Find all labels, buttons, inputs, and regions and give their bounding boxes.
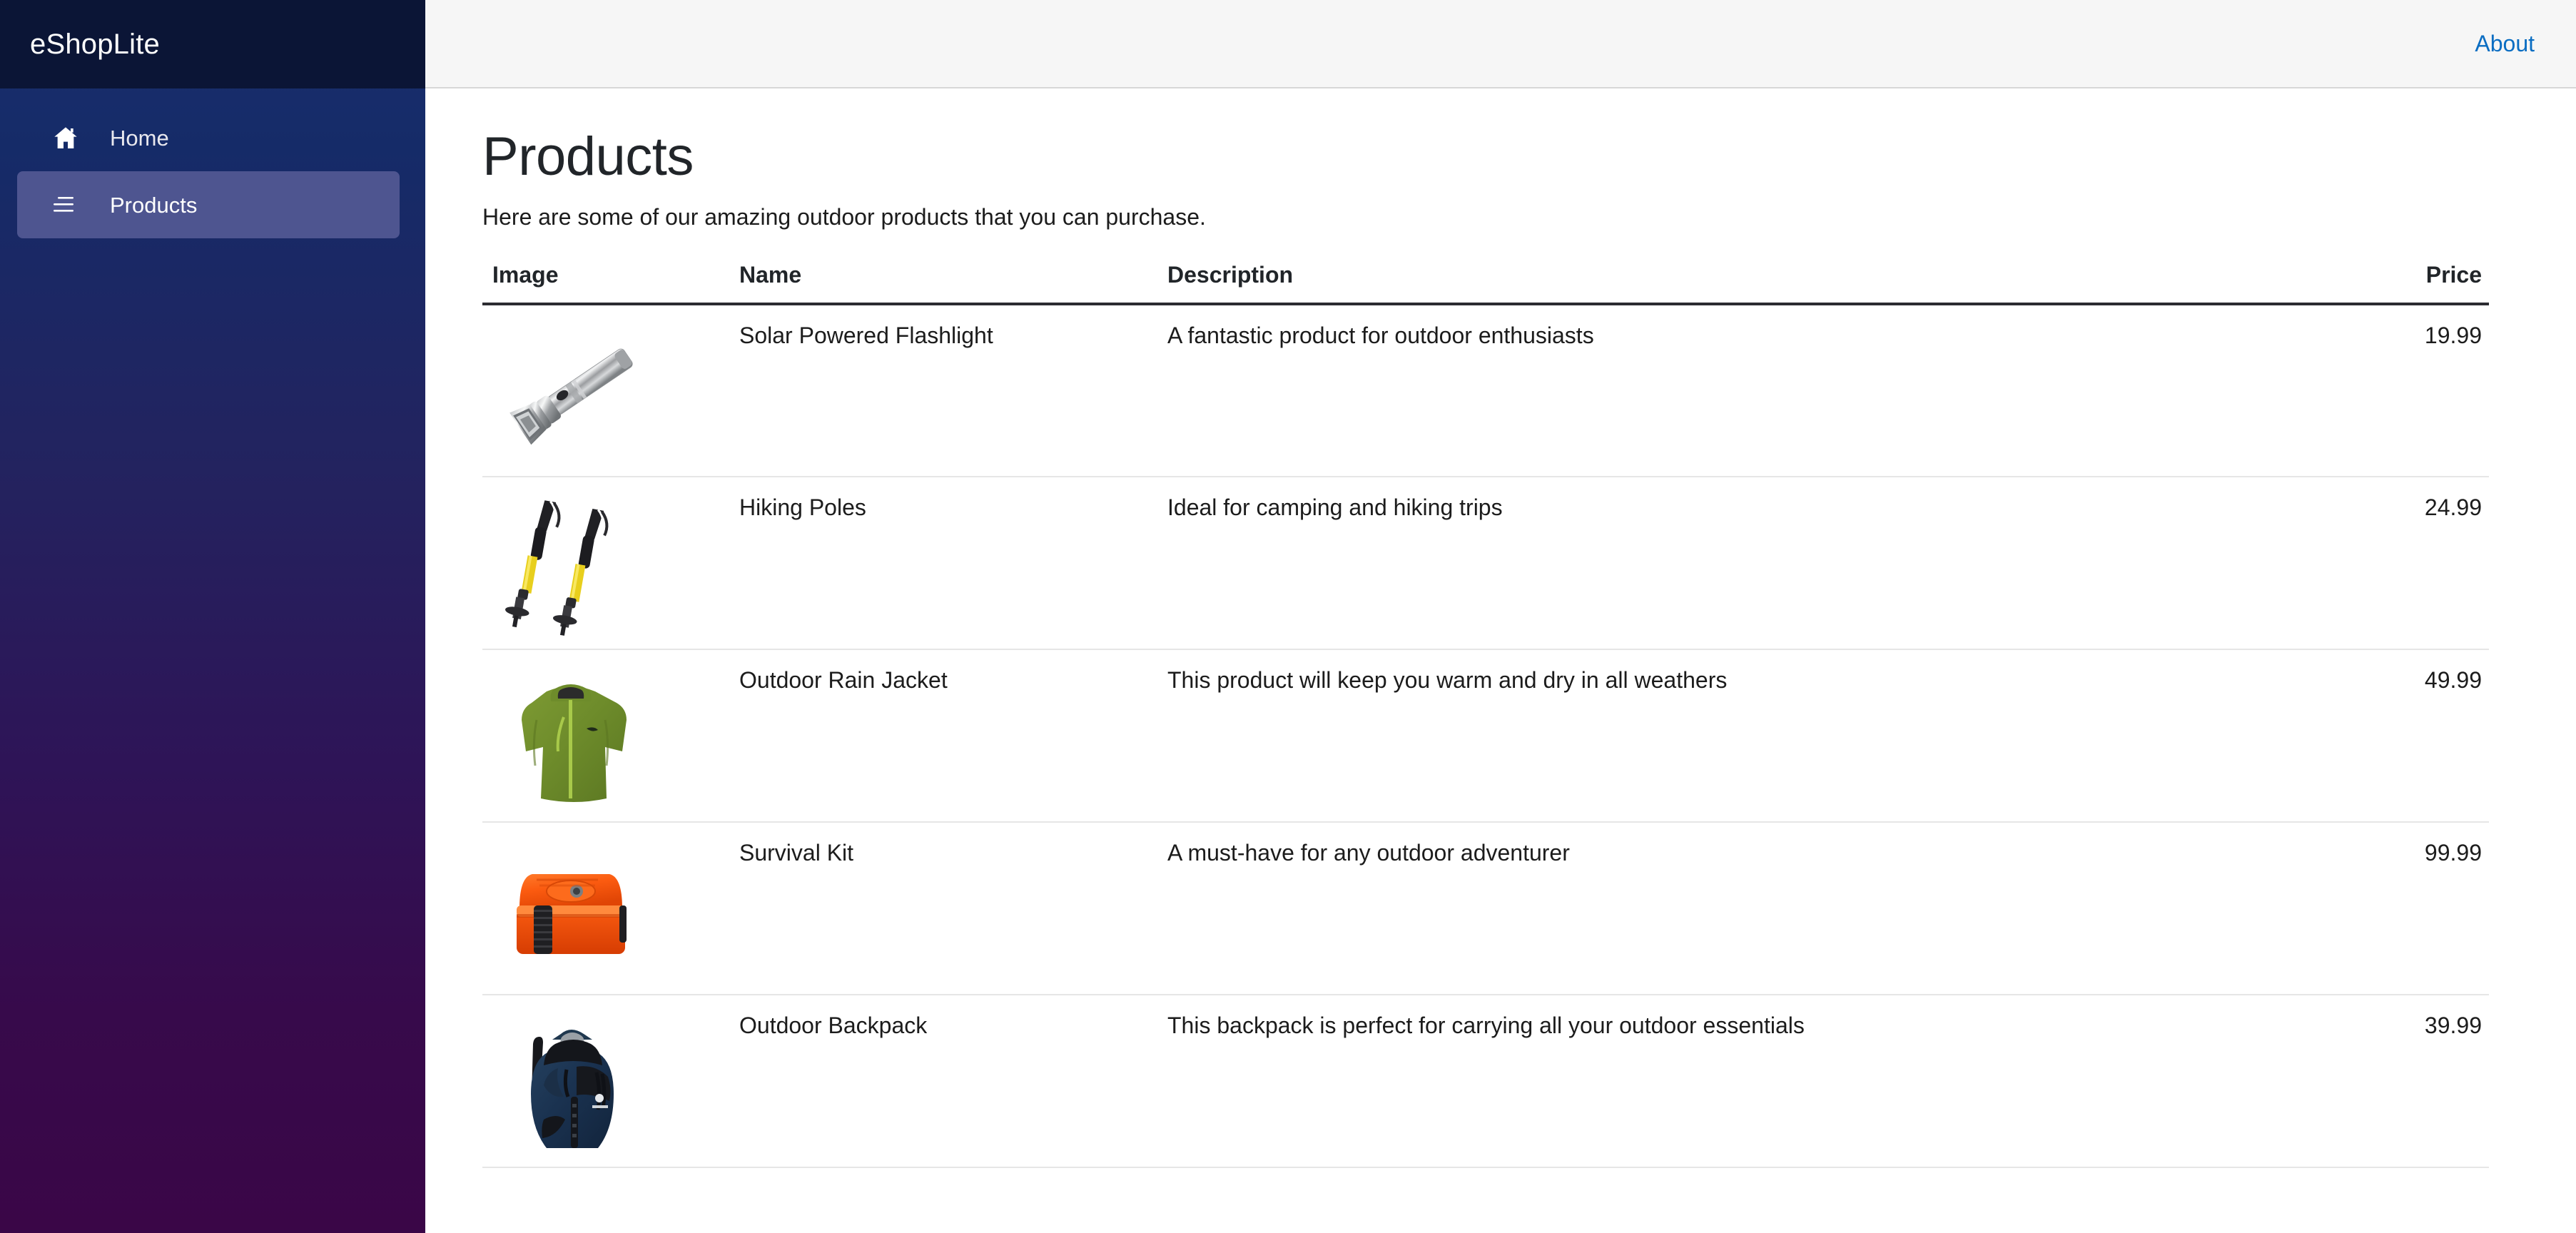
- rain-jacket-thumbnail: [492, 667, 649, 810]
- sidebar-item-products[interactable]: Products: [17, 171, 400, 238]
- product-name-cell: Solar Powered Flashlight: [739, 304, 1167, 477]
- table-row: Solar Powered Flashlight A fantastic pro…: [482, 304, 2489, 477]
- table-header-row: Image Name Description Price: [482, 262, 2489, 304]
- product-description-cell: A fantastic product for outdoor enthusia…: [1167, 304, 2261, 477]
- product-name-cell: Survival Kit: [739, 822, 1167, 995]
- table-row: Survival Kit A must-have for any outdoor…: [482, 822, 2489, 995]
- product-name-cell: Hiking Poles: [739, 477, 1167, 649]
- page-title: Products: [482, 128, 2489, 186]
- product-description-cell: This product will keep you warm and dry …: [1167, 649, 2261, 822]
- sidebar-item-home-label: Home: [110, 127, 169, 149]
- product-price-cell: 24.99: [2261, 477, 2489, 649]
- sidebar-item-home[interactable]: Home: [17, 104, 400, 171]
- product-price-cell: 99.99: [2261, 822, 2489, 995]
- about-link[interactable]: About: [2475, 32, 2535, 55]
- survival-kit-thumbnail: [492, 840, 649, 983]
- column-header-price: Price: [2261, 262, 2489, 304]
- main-area: About Products Here are some of our amaz…: [425, 0, 2576, 1233]
- table-row: Hiking Poles Ideal for camping and hikin…: [482, 477, 2489, 649]
- product-name-cell: Outdoor Rain Jacket: [739, 649, 1167, 822]
- product-image-cell: [482, 304, 739, 477]
- product-name-cell: Outdoor Backpack: [739, 995, 1167, 1167]
- column-header-description: Description: [1167, 262, 2261, 304]
- product-price-cell: 19.99: [2261, 304, 2489, 477]
- column-header-image: Image: [482, 262, 739, 304]
- product-price-cell: 49.99: [2261, 649, 2489, 822]
- page-subtitle: Here are some of our amazing outdoor pro…: [482, 204, 2489, 230]
- hiking-poles-thumbnail: [492, 494, 649, 637]
- page-content: Products Here are some of our amazing ou…: [425, 88, 2576, 1233]
- brand-title: eShopLite: [30, 30, 160, 59]
- products-table-body: Solar Powered Flashlight A fantastic pro…: [482, 304, 2489, 1167]
- product-description-cell: A must-have for any outdoor adventurer: [1167, 822, 2261, 995]
- product-description-cell: Ideal for camping and hiking trips: [1167, 477, 2261, 649]
- table-row: Outdoor Backpack This backpack is perfec…: [482, 995, 2489, 1167]
- column-header-name: Name: [739, 262, 1167, 304]
- flashlight-thumbnail: [492, 323, 649, 465]
- product-image-cell: [482, 477, 739, 649]
- product-image-cell: [482, 822, 739, 995]
- sidebar: eShopLite Home: [0, 0, 425, 1233]
- product-image-cell: [482, 995, 739, 1167]
- app-root: eShopLite Home: [0, 0, 2576, 1233]
- product-price-cell: 39.99: [2261, 995, 2489, 1167]
- product-description-cell: This backpack is perfect for carrying al…: [1167, 995, 2261, 1167]
- backpack-thumbnail: [492, 1013, 649, 1155]
- products-table-head: Image Name Description Price: [482, 262, 2489, 304]
- top-bar: About: [425, 0, 2576, 88]
- sidebar-item-products-label: Products: [110, 194, 197, 216]
- table-row: Outdoor Rain Jacket This product will ke…: [482, 649, 2489, 822]
- product-image-cell: [482, 649, 739, 822]
- list-icon: [51, 191, 80, 219]
- brand-bar: eShopLite: [0, 0, 425, 88]
- sidebar-nav: Home Products: [0, 88, 425, 238]
- products-table: Image Name Description Price: [482, 262, 2489, 1168]
- home-icon: [51, 123, 80, 152]
